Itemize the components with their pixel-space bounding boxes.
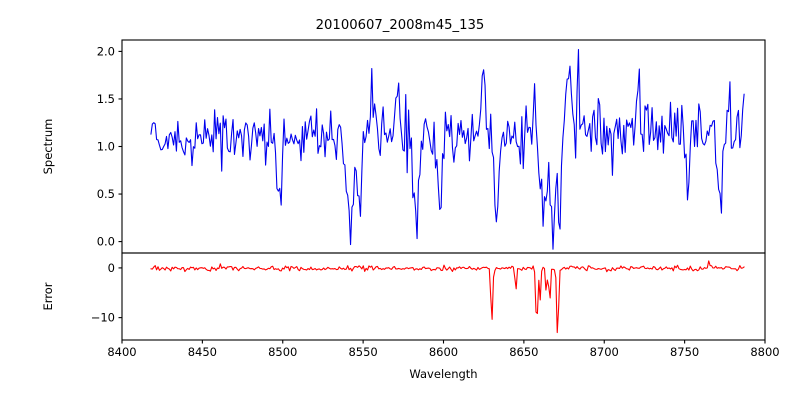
x-axis-tick-label: 8550 <box>348 345 377 359</box>
matplotlib-figure: 20100607_2008m45_135 0.00.51.01.52.0Spec… <box>0 0 800 400</box>
spectrum-figure-canvas: 20100607_2008m45_135 0.00.51.01.52.0Spec… <box>0 0 800 400</box>
error-y-axis-label: Error <box>41 282 55 310</box>
x-axis-tick-label: 8600 <box>429 345 458 359</box>
spectrum-y-axis-label: Spectrum <box>41 119 55 175</box>
spectrum-y-tick-label: 1.0 <box>97 140 115 154</box>
x-axis-label: Wavelength <box>409 367 477 381</box>
x-axis-tick-label: 8750 <box>670 345 699 359</box>
x-axis-tick-label: 8800 <box>750 345 779 359</box>
x-axis-tick-label: 8650 <box>509 345 538 359</box>
x-axis-tick-label: 8700 <box>590 345 619 359</box>
spectrum-y-tick-label: 1.5 <box>97 92 115 106</box>
x-axis-tick-label: 8450 <box>188 345 217 359</box>
x-axis-tick-label: 8500 <box>268 345 297 359</box>
x-axis-tick-label: 8400 <box>107 345 136 359</box>
error-y-tick-label: 0 <box>108 261 115 275</box>
spectrum-y-tick-label: 0.5 <box>97 187 115 201</box>
spectrum-y-tick-label: 2.0 <box>97 45 115 59</box>
spectrum-y-tick-label: 0.0 <box>97 235 115 249</box>
chart-title: 20100607_2008m45_135 <box>316 18 485 33</box>
error-y-tick-label: −10 <box>91 311 115 325</box>
